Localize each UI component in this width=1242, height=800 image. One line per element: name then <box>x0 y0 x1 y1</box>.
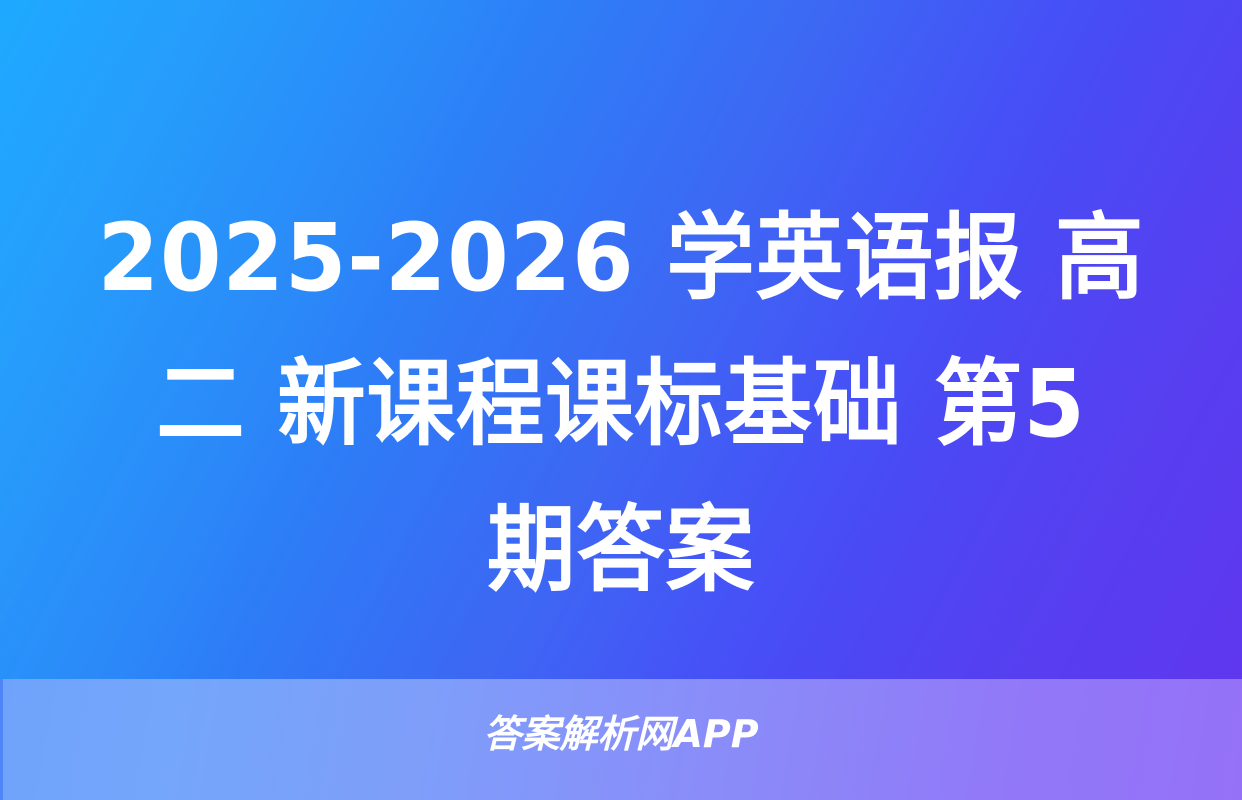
answer-poster: 2025-2026 学英语报 高 二 新课程课标基础 第5 期答案 答案解析网A… <box>0 0 1242 800</box>
app-brand-label: 答案解析网APP <box>0 711 1242 757</box>
title-line-3: 期答案 <box>37 478 1204 624</box>
title-line-1: 2025-2026 学英语报 高 <box>37 186 1204 332</box>
page-title: 2025-2026 学英语报 高 二 新课程课标基础 第5 期答案 <box>0 186 1242 624</box>
title-line-2: 二 新课程课标基础 第5 <box>37 332 1204 478</box>
